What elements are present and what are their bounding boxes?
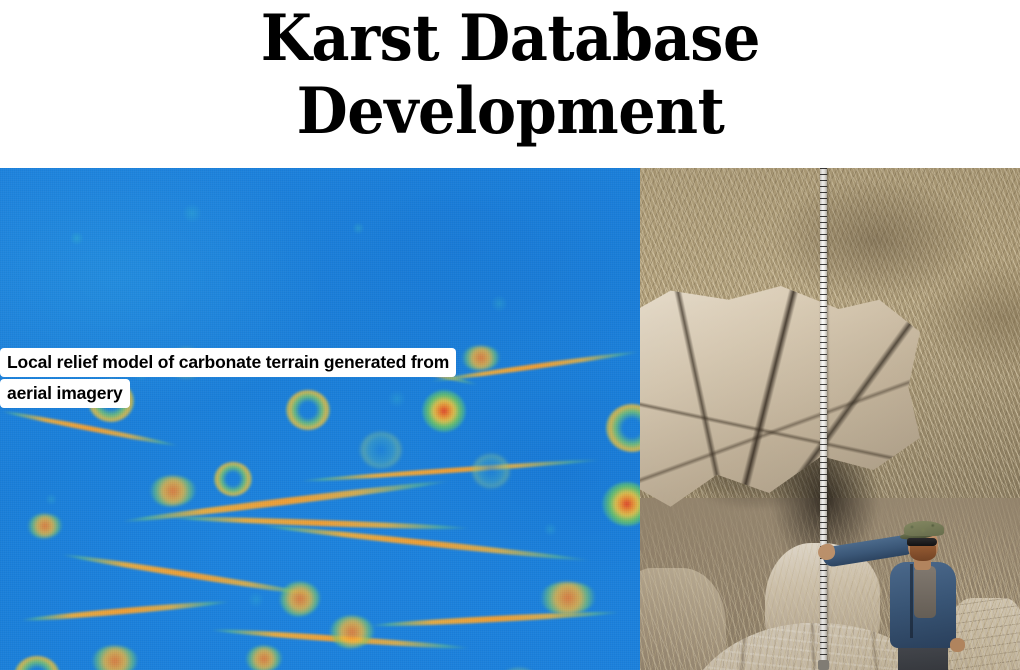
- media-row: Local relief model of carbonate terrain …: [0, 168, 1020, 670]
- geologist-hand-lower: [950, 638, 965, 652]
- photo-scene: [640, 168, 1020, 670]
- page-title-line-1: Karst Database: [260, 2, 759, 75]
- page-title-line-2: Development: [296, 75, 724, 148]
- local-relief-model-image: Local relief model of carbonate terrain …: [0, 168, 640, 670]
- relief-caption-line-2: aerial imagery: [0, 379, 130, 408]
- relief-heatmap: [0, 168, 640, 670]
- karst-feature-photo: Identified karst feature Photo courtesy …: [640, 168, 1020, 670]
- geologist-tshirt: [914, 566, 936, 618]
- survey-rod-ticks: [820, 168, 827, 668]
- slide-root: Karst Database Development: [0, 0, 1020, 670]
- geologist-shirt-placket: [910, 564, 913, 638]
- camo-cap: [904, 521, 944, 536]
- relief-caption-line-1: Local relief model of carbonate terrain …: [0, 348, 456, 377]
- sunglasses: [907, 538, 937, 546]
- survey-rod-foot: [818, 660, 829, 670]
- relief-caption: Local relief model of carbonate terrain …: [0, 348, 456, 408]
- page-title: Karst Database Development: [0, 2, 1020, 168]
- geologist-beard: [910, 546, 936, 561]
- relief-pixel-grain: [0, 168, 640, 670]
- geologist-figure: [840, 520, 990, 670]
